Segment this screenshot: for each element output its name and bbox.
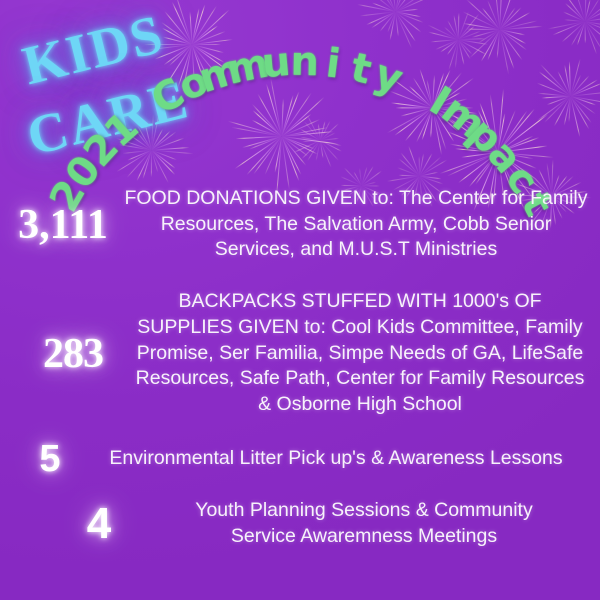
arc-title-char [399,64,431,112]
stat-row-backpacks: 283 BACKPACKS STUFFED WITH 1000's OF SUP… [0,289,600,418]
arc-title-char: m [223,40,273,93]
arc-title-char: i [323,40,342,87]
arc-title-char: u [260,39,292,87]
stat-text-youth-planning: Youth Planning Sessions & Community Serv… [164,498,600,549]
stat-number-litter-pickups: 5 [0,440,86,478]
stat-number-youth-planning: 4 [0,502,164,546]
arc-title-char: I [422,78,459,125]
brand-word-kids: KIDS [16,2,170,98]
community-impact-poster: KIDS CARE 2021 Community Impact 3,111 FO… [0,0,600,600]
stats-list: 3,111 FOOD DONATIONS GIVEN to: The Cente… [0,186,600,549]
stat-row-litter-pickups: 5 Environmental Litter Pick up's & Aware… [0,440,600,478]
stat-row-youth-planning: 4 Youth Planning Sessions & Community Se… [0,498,600,549]
arc-title-char: o [172,57,215,110]
arc-title-char: p [459,110,511,163]
brand-word-care: CARE [21,67,195,168]
arc-title-char: y [369,51,409,103]
arc-title-char: 2 [75,124,128,176]
arc-title-char: a [478,132,531,182]
arc-title-char: m [433,87,494,149]
stat-number-food-donations: 3,111 [0,204,122,246]
arc-title-char: m [194,46,247,102]
stat-text-litter-pickups: Environmental Litter Pick up's & Awarene… [86,446,600,472]
arc-title-char: n [290,39,319,85]
arc-title-char: C [144,69,192,123]
arc-title-char [125,89,163,135]
arc-title-2021-community-impact: 2021 Community Impact [0,0,600,200]
arc-title-char: t [347,45,376,94]
arc-title-char: 1 [96,103,147,156]
stat-row-food-donations: 3,111 FOOD DONATIONS GIVEN to: The Cente… [0,186,600,263]
stat-number-backpacks: 283 [0,333,132,375]
stat-text-backpacks: BACKPACKS STUFFED WITH 1000's OF SUPPLIE… [132,289,600,418]
stat-text-food-donations: FOOD DONATIONS GIVEN to: The Center for … [122,186,600,263]
